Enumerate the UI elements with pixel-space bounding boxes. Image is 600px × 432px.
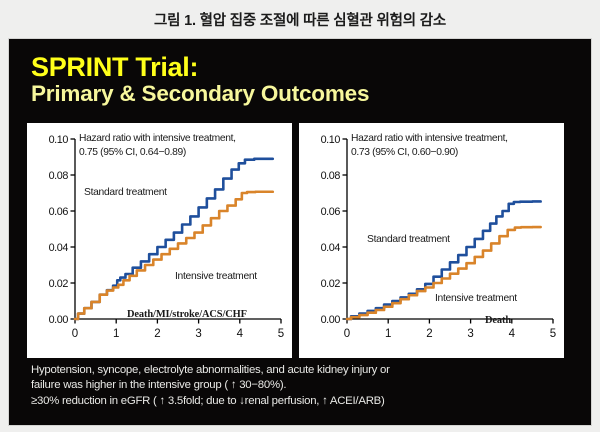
svg-text:5: 5 [550, 328, 556, 340]
svg-text:2: 2 [154, 328, 160, 340]
left-label-standard: Standard treatment [84, 187, 167, 198]
slide-title-main: SPRINT Trial: [31, 53, 571, 81]
figure-root: 그림 1. 혈압 집중 조절에 따른 심혈관 위험의 감소 SPRINT Tri… [0, 0, 600, 432]
svg-text:4: 4 [509, 328, 516, 340]
left-endpoint-label: Death/MI/stroke/ACS/CHF [127, 309, 247, 320]
svg-text:0.00: 0.00 [321, 314, 341, 326]
svg-text:0.10: 0.10 [49, 134, 69, 146]
svg-text:0: 0 [344, 328, 350, 340]
svg-text:0.02: 0.02 [49, 278, 69, 290]
svg-text:0.06: 0.06 [49, 206, 69, 218]
notes-block: Hypotension, syncope, electrolyte abnorm… [31, 363, 579, 409]
svg-text:0.00: 0.00 [49, 314, 69, 326]
right-hazard-line1: Hazard ratio with intensive treatment, [351, 132, 508, 145]
svg-text:2: 2 [426, 328, 432, 340]
charts-container: 0.000.020.040.060.080.10012345 Hazard ra… [27, 123, 575, 358]
svg-text:0.04: 0.04 [321, 242, 341, 254]
svg-text:0.04: 0.04 [49, 242, 69, 254]
svg-text:0.06: 0.06 [321, 206, 341, 218]
right-label-standard: Standard treatment [367, 234, 450, 245]
left-label-intensive: Intensive treatment [175, 271, 257, 282]
svg-text:5: 5 [278, 328, 284, 340]
note-line-1: Hypotension, syncope, electrolyte abnorm… [31, 363, 579, 378]
figure-caption: 그림 1. 혈압 집중 조절에 따른 심혈관 위험의 감소 [0, 0, 600, 38]
chart-panel-right: 0.000.020.040.060.080.10012345 Hazard ra… [299, 123, 564, 358]
slide-title-sub: Primary & Secondary Outcomes [31, 82, 571, 106]
right-label-intensive: Intensive treatment [435, 293, 517, 304]
svg-text:4: 4 [237, 328, 244, 340]
svg-text:1: 1 [113, 328, 119, 340]
right-hazard-line2: 0.73 (95% CI, 0.60−0.90) [351, 146, 458, 159]
svg-text:0.10: 0.10 [321, 134, 341, 146]
svg-text:0.08: 0.08 [49, 170, 69, 182]
svg-text:0: 0 [72, 328, 78, 340]
right-endpoint-label: Death [485, 315, 511, 326]
svg-text:3: 3 [467, 328, 473, 340]
svg-text:3: 3 [195, 328, 201, 340]
svg-text:0.08: 0.08 [321, 170, 341, 182]
slide-panel: SPRINT Trial: Primary & Secondary Outcom… [8, 38, 592, 426]
left-hazard-line1: Hazard ratio with intensive treatment, [79, 132, 236, 145]
note-line-2: failure was higher in the intensive grou… [31, 378, 579, 393]
slide-title-block: SPRINT Trial: Primary & Secondary Outcom… [31, 53, 571, 106]
note-line-3: ≥30% reduction in eGFR ( ↑ 3.5fold; due … [31, 394, 579, 409]
svg-text:1: 1 [385, 328, 391, 340]
svg-text:0.02: 0.02 [321, 278, 341, 290]
left-hazard-line2: 0.75 (95% CI, 0.64−0.89) [79, 146, 186, 159]
chart-panel-left: 0.000.020.040.060.080.10012345 Hazard ra… [27, 123, 292, 358]
